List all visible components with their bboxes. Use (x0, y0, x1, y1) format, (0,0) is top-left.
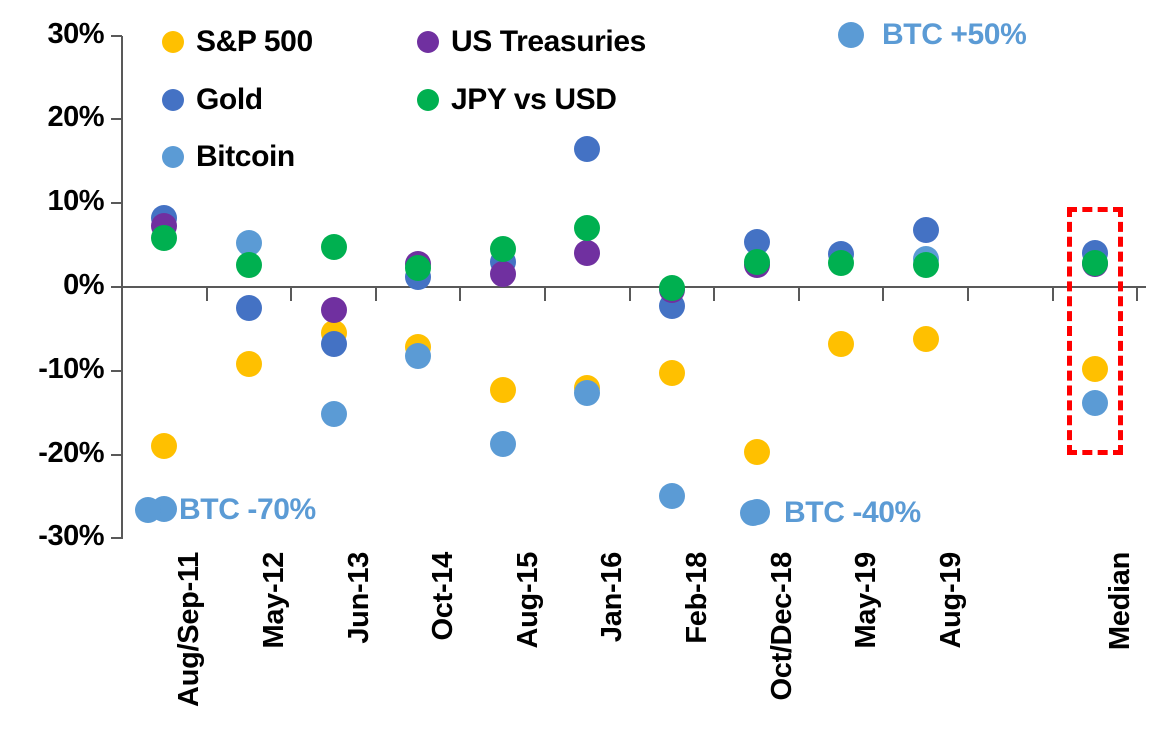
x-tick-mark (375, 288, 377, 301)
x-axis-zero-line (121, 286, 1146, 288)
legend-label-us-treasuries: US Treasuries (451, 25, 646, 59)
data-point (490, 261, 516, 287)
y-tick-mark (111, 454, 122, 456)
y-tick-label: 10% (0, 187, 104, 216)
data-point (405, 255, 431, 281)
y-tick-mark (111, 370, 122, 372)
btc-minus-40-label: BTC -40% (784, 496, 921, 530)
x-tick-mark (882, 288, 884, 301)
data-point (490, 236, 516, 262)
x-tick-mark (713, 288, 715, 301)
data-point (490, 431, 516, 457)
us-treasuries-legend-dot (417, 31, 439, 53)
data-point (574, 215, 600, 241)
y-tick-mark (111, 202, 122, 204)
data-point (659, 483, 685, 509)
x-tick-mark (290, 288, 292, 301)
jpy-vs-usd-legend-dot (417, 89, 439, 111)
btc-minus-70-dot (135, 497, 161, 523)
legend-label-bitcoin: Bitcoin (196, 140, 295, 174)
x-tick-mark (459, 288, 461, 301)
x-tick-mark (967, 288, 969, 301)
x-tick-mark (798, 288, 800, 301)
annotation-btc-plus-50: BTC +50% (838, 18, 1026, 52)
legend-item-gold[interactable]: Gold (162, 83, 263, 117)
data-point (321, 297, 347, 323)
y-tick-label: 20% (0, 103, 104, 132)
x-axis-label: Oct-14 (429, 552, 458, 640)
y-tick-label: -10% (0, 355, 104, 384)
data-point (744, 439, 770, 465)
x-tick-mark (1136, 288, 1138, 301)
legend-item-jpy-vs-usd[interactable]: JPY vs USD (417, 83, 617, 117)
y-tick-label: -30% (0, 522, 104, 551)
data-point (490, 377, 516, 403)
y-tick-label: 30% (0, 20, 104, 49)
x-axis-label: Median (1106, 552, 1135, 650)
btc-plus-50-dot (838, 22, 864, 48)
data-point (236, 295, 262, 321)
legend-item-us-treasuries[interactable]: US Treasuries (417, 25, 646, 59)
btc-plus-50-label: BTC +50% (882, 18, 1026, 52)
x-tick-mark (121, 288, 123, 301)
legend-item-bitcoin[interactable]: Bitcoin (162, 140, 295, 174)
x-axis-label: Aug-15 (514, 552, 543, 649)
x-axis-label: Feb-18 (683, 552, 712, 644)
x-tick-mark (544, 288, 546, 301)
data-point (744, 249, 770, 275)
data-point (574, 380, 600, 406)
data-point (828, 250, 854, 276)
legend-item-sp500[interactable]: S&P 500 (162, 25, 313, 59)
data-point (659, 360, 685, 386)
data-point (659, 275, 685, 301)
x-axis-label: May-12 (260, 552, 289, 649)
data-point (321, 234, 347, 260)
gold-legend-dot (162, 89, 184, 111)
x-axis-label: Jun-13 (345, 552, 374, 644)
data-point (913, 326, 939, 352)
x-axis-label: Jan-16 (598, 552, 627, 642)
data-point (405, 343, 431, 369)
data-point (151, 225, 177, 251)
legend-label-gold: Gold (196, 83, 263, 117)
data-point (321, 331, 347, 357)
btc-minus-40-dot (740, 500, 766, 526)
y-tick-label: -20% (0, 439, 104, 468)
data-point (151, 433, 177, 459)
data-point (828, 331, 854, 357)
annotation-btc-minus-40: BTC -40% (740, 496, 921, 530)
data-point (321, 401, 347, 427)
x-tick-mark (629, 288, 631, 301)
x-axis-label: Aug/Sep-11 (175, 552, 204, 707)
x-tick-mark (1052, 288, 1054, 301)
x-axis-label: Aug-19 (937, 552, 966, 649)
x-axis-label: May-19 (852, 552, 881, 649)
scatter-chart: 30%20%10%0%-10%-20%-30% Aug/Sep-11May-12… (0, 0, 1151, 739)
data-point (574, 136, 600, 162)
data-point (913, 217, 939, 243)
y-tick-mark (111, 537, 122, 539)
x-axis-label: Oct/Dec-18 (768, 552, 797, 701)
y-tick-mark (111, 118, 122, 120)
data-point (236, 351, 262, 377)
btc-minus-70-label: BTC -70% (179, 493, 316, 527)
data-point (236, 252, 262, 278)
data-point (913, 252, 939, 278)
median-highlight-box (1067, 207, 1123, 455)
x-tick-mark (206, 288, 208, 301)
annotation-btc-minus-70: BTC -70% (135, 493, 316, 527)
legend-label-sp500: S&P 500 (196, 25, 313, 59)
sp500-legend-dot (162, 31, 184, 53)
bitcoin-legend-dot (162, 146, 184, 168)
y-tick-mark (111, 35, 122, 37)
y-tick-label: 0% (0, 271, 104, 300)
legend-label-jpy-vs-usd: JPY vs USD (451, 83, 617, 117)
data-point (574, 240, 600, 266)
